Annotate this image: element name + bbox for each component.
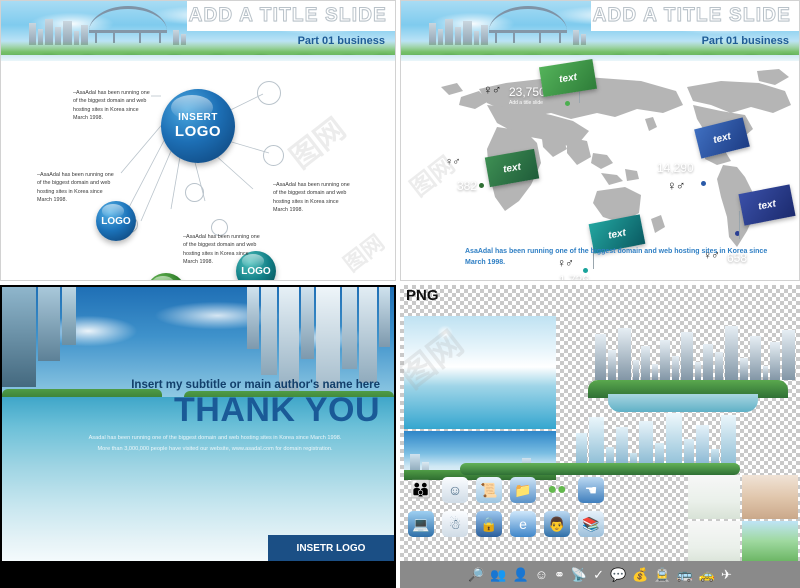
slide-png-assets[interactable]: PNG	[400, 285, 800, 588]
insert-logo-button[interactable]: INSETR LOGO	[268, 535, 394, 561]
hub-text-right: –AsaAdal has been running one of the big…	[273, 181, 353, 215]
page-subtitle: Part 01 business	[298, 35, 385, 47]
people-icon: ♀♂	[483, 83, 501, 96]
network-icon[interactable]: ⚭	[554, 567, 565, 583]
page-subtitle: Part 01 business	[702, 35, 789, 47]
bus-icon[interactable]: 🚌	[677, 567, 693, 583]
thank-you-subtitle: Insert my subtitle or main author's name…	[131, 379, 380, 391]
two-people-icon[interactable]: 👥	[490, 567, 506, 583]
map-dot[interactable]	[701, 181, 706, 186]
screenshot-root: ADD A TITLE SLIDE Part 01 business	[0, 0, 800, 588]
people-icon: ♀♂	[445, 157, 460, 168]
map-footer-text: AsaAdal has been running one of the bigg…	[465, 246, 785, 268]
map-value: 382	[457, 179, 477, 193]
people-icon[interactable]: 👪	[408, 477, 434, 503]
cutout-river-green[interactable]	[588, 380, 788, 414]
title-plate: ADD A TITLE SLIDE	[187, 1, 395, 31]
thumbnail-tree-bench[interactable]	[688, 475, 740, 519]
flag-label: text	[607, 227, 627, 241]
slide-header-banner: ADD A TITLE SLIDE Part 01 business	[1, 1, 395, 61]
hub-text-mid-left: –AsaAdal has been running one of the big…	[37, 171, 117, 205]
page-title: ADD A TITLE SLIDE	[189, 5, 387, 27]
hub-ring-node[interactable]	[263, 145, 284, 166]
tram-icon[interactable]: 🚊	[654, 567, 670, 583]
world-map-canvas: ♀♂ 23,750 Add a title slide text ♀♂ 382 …	[401, 61, 799, 281]
insert-logo-line2: LOGO	[175, 123, 221, 140]
thumbnail-heart-tree[interactable]	[688, 521, 740, 565]
map-value: 14,290	[657, 161, 694, 175]
insert-logo-line1: INSERT	[178, 112, 218, 123]
person-check-icon[interactable]: ✓	[593, 567, 604, 583]
logo-hub-canvas: INSERT LOGO LOGO LOGO LOGO –AsaAdal has …	[1, 61, 395, 281]
thumbnail-green-field[interactable]	[742, 521, 798, 565]
person-chat-icon[interactable]: 💬	[610, 567, 626, 583]
flag-label: text	[558, 71, 577, 85]
person-round-icon[interactable]: ☺	[535, 567, 548, 582]
slide-logo-hub[interactable]: ADD A TITLE SLIDE Part 01 business	[0, 0, 396, 281]
flag-label: text	[757, 198, 777, 212]
thank-you-body: Asadal has been running one of the bigge…	[50, 433, 380, 454]
slide-world-map[interactable]: ADD A TITLE SLIDE Part 01 business	[400, 0, 800, 281]
cutout-city-grey[interactable]	[595, 325, 795, 380]
hub-text-bottom: –AsaAdal has been running one of the big…	[183, 233, 263, 267]
folder-icon[interactable]: 📁	[510, 477, 536, 503]
thank-you-body-line1: Asadal has been running one of the bigge…	[50, 433, 380, 444]
cutout-city-with-grass[interactable]	[460, 435, 740, 475]
businessman-laptop-icon[interactable]: 👨	[544, 511, 570, 537]
map-dot[interactable]	[479, 183, 484, 188]
map-dot[interactable]	[583, 268, 588, 273]
map-dot[interactable]	[565, 101, 570, 106]
flag-pole	[739, 211, 740, 239]
png-icon-row-1: 👪 ☺ 📜 📁 ●● ☚	[408, 477, 604, 503]
airplane-icon[interactable]: ✈	[721, 567, 732, 583]
documents-icon[interactable]: 📜	[476, 477, 502, 503]
slide-thank-you[interactable]: Insert my subtitle or main author's name…	[0, 285, 396, 588]
insert-logo-node[interactable]: INSERT LOGO	[161, 89, 235, 163]
people-icon: ♀♂	[667, 179, 685, 192]
robot-body-icon[interactable]: ☃	[442, 511, 468, 537]
left-buildings	[2, 287, 76, 405]
logo-node-blue[interactable]: LOGO	[96, 201, 136, 241]
thank-you-headline: THANK YOU	[174, 391, 380, 430]
taxi-icon[interactable]: 🚕	[699, 567, 715, 583]
monitor-icon[interactable]: 💻	[408, 511, 434, 537]
png-label: PNG	[406, 287, 439, 304]
flag-label: text	[712, 131, 732, 146]
flag-label: text	[502, 161, 521, 175]
logo-node-label: LOGO	[101, 216, 130, 227]
lock-icon[interactable]: 🔒	[476, 511, 502, 537]
hub-ring-node[interactable]	[185, 183, 204, 202]
thank-you-body-line2: More than 3,000,000 people have visited …	[50, 444, 380, 455]
internet-explorer-icon[interactable]: e	[510, 511, 536, 537]
hand-click-icon[interactable]: ☚	[578, 477, 604, 503]
users-group-icon[interactable]: ●●	[544, 477, 570, 503]
logo-node-label: LOGO	[241, 266, 270, 277]
png-icon-row-2: 💻 ☃ 🔒 e 👨 📚	[408, 511, 604, 537]
thumbnail-hand-sprout[interactable]	[742, 475, 798, 519]
slide-header-banner: ADD A TITLE SLIDE Part 01 business	[401, 1, 799, 61]
map-caption: Add a title slide	[509, 100, 543, 106]
search-person-icon[interactable]: 🔎	[468, 567, 484, 583]
satellite-icon[interactable]: 📡	[571, 567, 587, 583]
thumbnail-sea-sky[interactable]	[404, 316, 556, 429]
person-icon[interactable]: 👤	[513, 567, 529, 583]
robot-icon[interactable]: ☺	[442, 477, 468, 503]
page-title: ADD A TITLE SLIDE	[593, 5, 791, 27]
hub-ring-node[interactable]	[257, 81, 281, 105]
map-value: 23,750	[509, 85, 546, 99]
pictogram-strip[interactable]: 🔎 👥 👤 ☺ ⚭ 📡 ✓ 💬 💰 🚊 🚌 🚕 ✈	[400, 561, 800, 588]
thank-you-canvas: Insert my subtitle or main author's name…	[2, 287, 394, 561]
map-value: 1,726	[559, 273, 589, 281]
hub-text-top-left: –AsaAdal has been running one of the big…	[73, 89, 153, 123]
money-bag-icon[interactable]: 💰	[632, 567, 648, 583]
title-plate: ADD A TITLE SLIDE	[591, 1, 799, 31]
books-icon[interactable]: 📚	[578, 511, 604, 537]
